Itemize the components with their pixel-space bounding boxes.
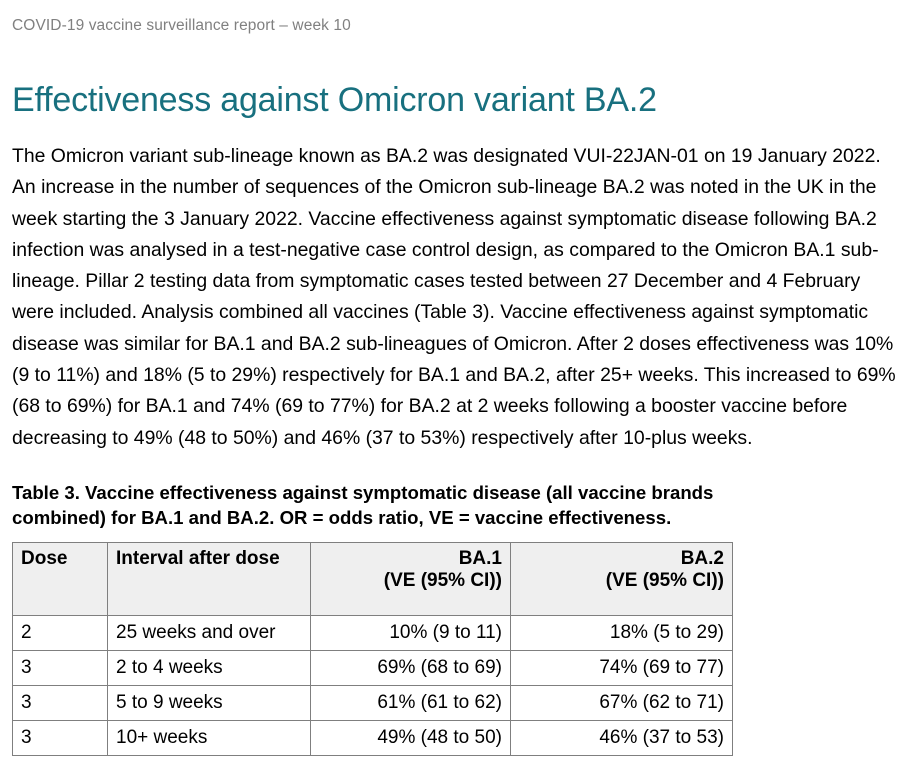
cell-interval: 10+ weeks — [108, 720, 311, 755]
cell-ba2: 67% (62 to 71) — [511, 685, 733, 720]
cell-ba2: 74% (69 to 77) — [511, 650, 733, 685]
cell-ba1: 49% (48 to 50) — [311, 720, 511, 755]
body-paragraph: The Omicron variant sub-lineage known as… — [12, 120, 906, 454]
cell-dose: 2 — [13, 615, 108, 650]
cell-ba1: 69% (68 to 69) — [311, 650, 511, 685]
cell-ba1: 61% (61 to 62) — [311, 685, 511, 720]
cell-dose: 3 — [13, 685, 108, 720]
table-header: Dose Interval after dose BA.1 (VE (95% C… — [13, 542, 733, 615]
column-header-ba1-sublabel: (VE (95% CI)) — [319, 570, 502, 592]
column-header-ba2-label: BA.2 — [519, 548, 724, 570]
vaccine-effectiveness-table: Dose Interval after dose BA.1 (VE (95% C… — [12, 542, 733, 756]
column-header-ba1: BA.1 (VE (95% CI)) — [311, 542, 511, 615]
cell-ba2: 18% (5 to 29) — [511, 615, 733, 650]
running-header: COVID-19 vaccine surveillance report – w… — [12, 0, 900, 36]
page-title: Effectiveness against Omicron variant BA… — [12, 36, 900, 120]
column-header-ba2-sublabel: (VE (95% CI)) — [519, 570, 724, 592]
column-header-dose-label: Dose — [21, 548, 99, 570]
column-header-dose: Dose — [13, 542, 108, 615]
table-row: 2 25 weeks and over 10% (9 to 11) 18% (5… — [13, 615, 733, 650]
table-row: 3 10+ weeks 49% (48 to 50) 46% (37 to 53… — [13, 720, 733, 755]
cell-dose: 3 — [13, 720, 108, 755]
table-body: 2 25 weeks and over 10% (9 to 11) 18% (5… — [13, 615, 733, 755]
cell-interval: 2 to 4 weeks — [108, 650, 311, 685]
column-header-interval: Interval after dose — [108, 542, 311, 615]
table-row: 3 5 to 9 weeks 61% (61 to 62) 67% (62 to… — [13, 685, 733, 720]
column-header-ba2: BA.2 (VE (95% CI)) — [511, 542, 733, 615]
table-caption: Table 3. Vaccine effectiveness against s… — [12, 454, 812, 530]
column-header-interval-label: Interval after dose — [116, 548, 302, 570]
cell-interval: 5 to 9 weeks — [108, 685, 311, 720]
table-header-row: Dose Interval after dose BA.1 (VE (95% C… — [13, 542, 733, 615]
table-row: 3 2 to 4 weeks 69% (68 to 69) 74% (69 to… — [13, 650, 733, 685]
cell-dose: 3 — [13, 650, 108, 685]
cell-ba1: 10% (9 to 11) — [311, 615, 511, 650]
cell-interval: 25 weeks and over — [108, 615, 311, 650]
column-header-ba1-label: BA.1 — [319, 548, 502, 570]
document-page: COVID-19 vaccine surveillance report – w… — [0, 0, 912, 774]
cell-ba2: 46% (37 to 53) — [511, 720, 733, 755]
